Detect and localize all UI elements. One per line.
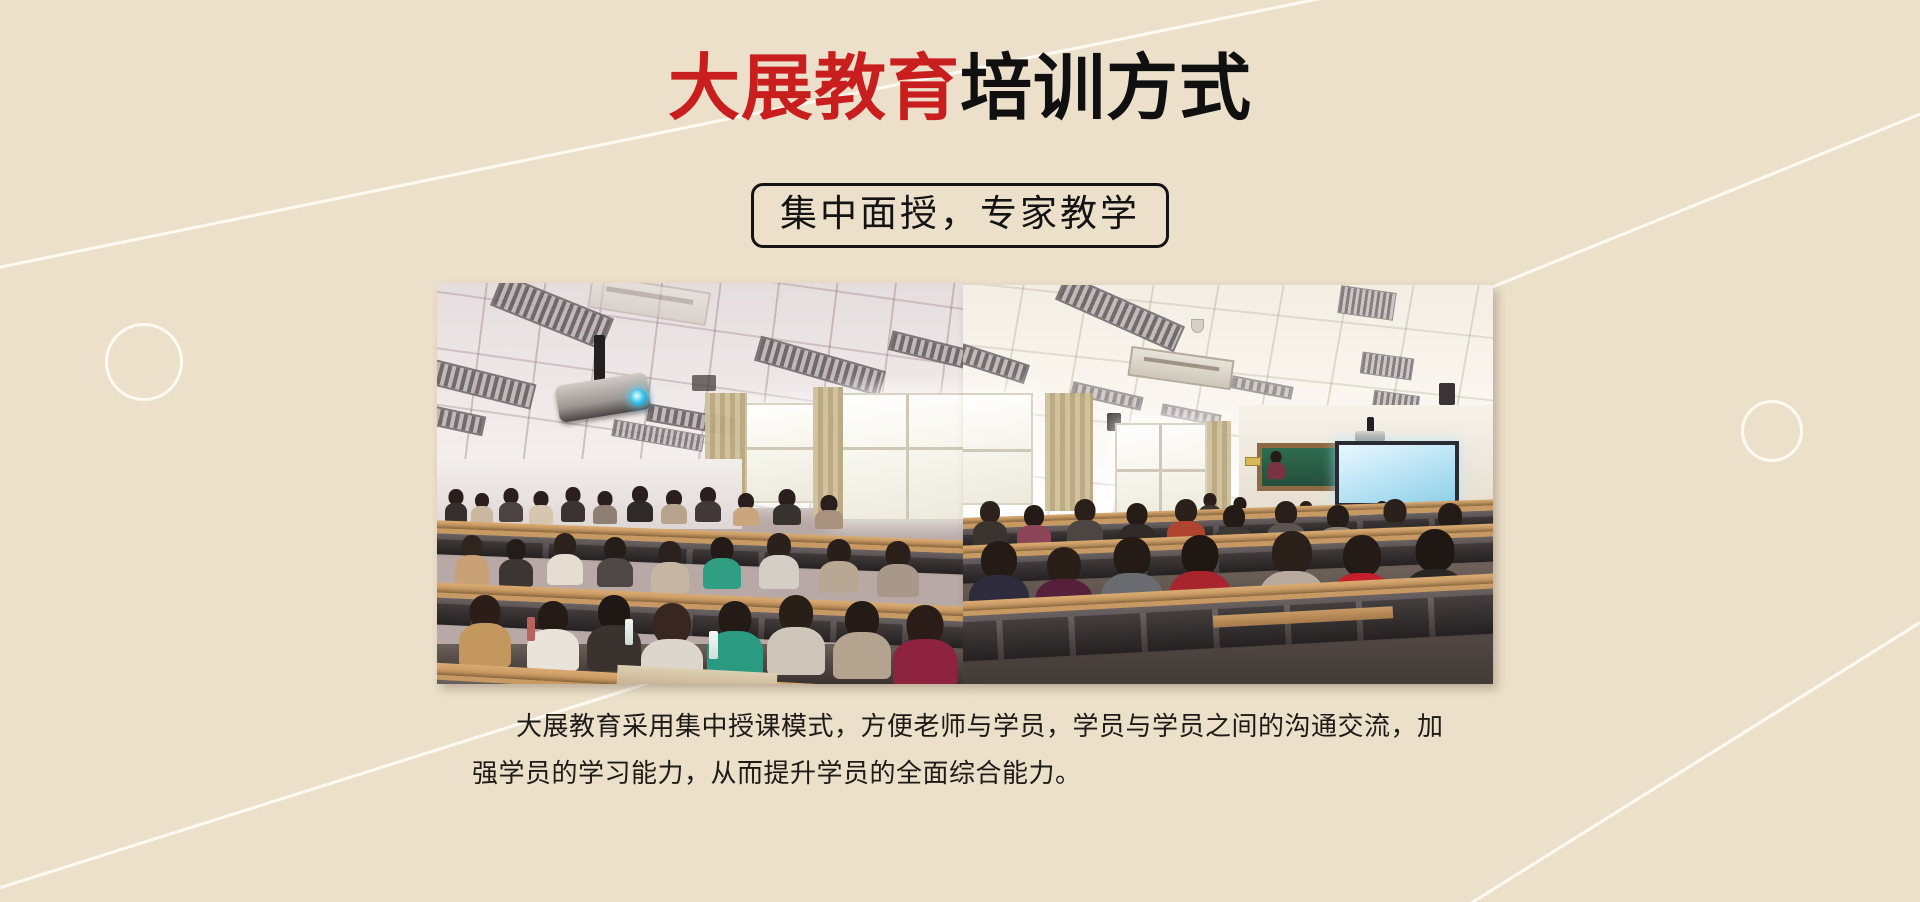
student-figure <box>833 601 891 679</box>
student-figure <box>597 537 633 587</box>
student-figure <box>471 493 493 525</box>
water-bottle <box>625 619 633 645</box>
student-figure <box>627 486 653 522</box>
wall-speaker-icon <box>692 375 716 391</box>
student-figure <box>703 537 741 589</box>
page-title: 大展教育培训方式 <box>0 52 1920 124</box>
section-caption: 大展教育采用集中授课模式，方便老师与学员，学员与学员之间的沟通交流，加强学员的学… <box>472 704 1457 799</box>
decorative-diagonal-line-1 <box>0 0 1409 293</box>
student-figure <box>819 539 859 593</box>
student-figure <box>499 539 533 587</box>
student-figure <box>767 595 825 675</box>
classroom-window <box>739 403 819 503</box>
student-figure <box>455 535 489 585</box>
student-figure <box>459 595 511 667</box>
student-figure <box>593 491 617 524</box>
page-title-highlight: 大展教育 <box>668 46 960 130</box>
classroom-photo-wide <box>963 285 1493 684</box>
student-figure <box>695 487 721 522</box>
student-figure <box>445 489 467 523</box>
classroom-window <box>963 393 1033 505</box>
page-title-rest: 培训方式 <box>960 46 1252 130</box>
projection-screen <box>1335 441 1459 507</box>
classroom-photo-front <box>437 283 963 684</box>
student-figure <box>893 605 957 684</box>
student-figure <box>547 533 583 585</box>
window-curtain <box>1045 393 1093 511</box>
student-figure <box>651 541 689 593</box>
student-figure <box>773 489 801 525</box>
water-bottle <box>527 617 535 641</box>
subtitle-container: 集中面授，专家教学 <box>0 183 1920 248</box>
student-figure <box>815 495 843 529</box>
classroom-photo-front-image <box>437 283 963 684</box>
wall-speaker-icon <box>1439 383 1455 405</box>
photo-gallery <box>437 281 1493 684</box>
smoke-detector-icon <box>1191 319 1204 333</box>
subtitle-badge: 集中面授，专家教学 <box>751 183 1169 248</box>
decorative-circle-left <box>105 323 183 401</box>
decorative-diagonal-line-4 <box>1470 605 1920 902</box>
decorative-circle-right <box>1741 400 1803 462</box>
exit-sign-icon <box>1245 457 1261 466</box>
student-figure <box>499 488 523 522</box>
classroom-photo-wide-image <box>963 285 1493 684</box>
student-figure <box>733 493 759 526</box>
page-root: 大展教育培训方式 集中面授，专家教学 <box>0 0 1920 902</box>
student-figure <box>759 533 799 589</box>
classroom-window <box>837 393 963 521</box>
water-bottle <box>709 631 718 659</box>
student-figure <box>661 490 687 524</box>
student-figure <box>529 491 553 524</box>
projector-lens-icon <box>630 389 647 406</box>
teacher-figure <box>1267 451 1285 479</box>
projector-mount <box>594 335 605 385</box>
student-figure <box>877 541 919 597</box>
student-figure <box>561 487 585 522</box>
